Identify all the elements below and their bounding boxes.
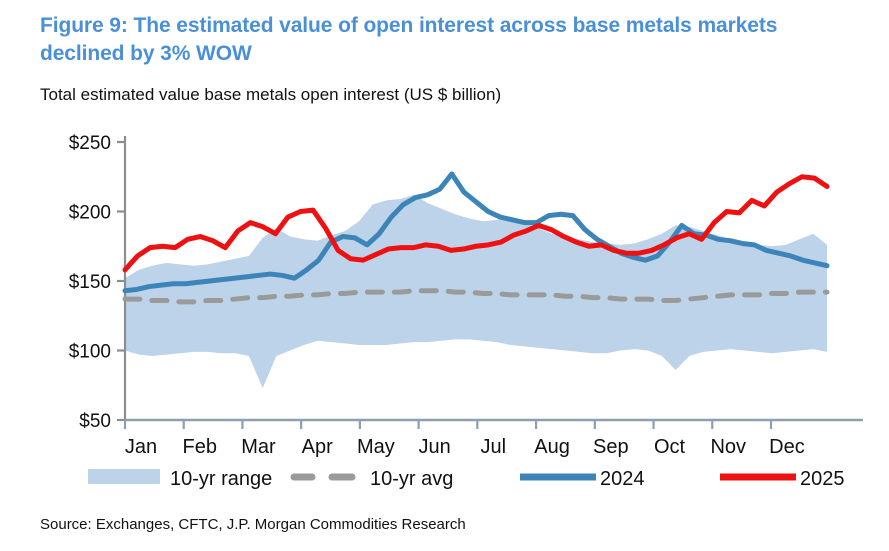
x-tick-label-jun: Jun [419,436,451,458]
y-tick-label: $200 [69,203,111,224]
x-tick-label-oct: Oct [654,436,686,458]
x-tick-label-aug: Aug [534,436,570,458]
x-tick-label-dec: Dec [769,436,805,458]
y-tick-label: $250 [69,133,111,154]
x-tick-label-sep: Sep [593,436,629,458]
x-tick-label-jul: Jul [481,436,507,458]
figure-title: Figure 9: The estimated value of open in… [40,12,840,68]
line-chart: $50$100$150$200$250JanFebMarAprMayJunJul… [0,120,889,465]
legend-item-10-yr-avg-label: 10-yr avg [370,468,453,490]
legend-item-2024-label: 2024 [600,468,645,490]
y-tick-label: $50 [79,411,111,432]
legend-swatches: 10-yr range10-yr avg20242025 [0,462,889,496]
y-tick-label: $100 [69,342,111,363]
figure-subtitle: Total estimated value base metals open i… [40,85,860,105]
source-note: Source: Exchanges, CFTC, J.P. Morgan Com… [40,516,466,533]
legend-item-2025-label: 2025 [800,468,845,490]
x-tick-label-may: May [357,436,395,458]
legend-item-10-yr-range-swatch [88,469,160,484]
x-tick-label-mar: Mar [241,436,276,458]
x-tick-label-jan: Jan [125,436,157,458]
x-tick-label-nov: Nov [710,436,746,458]
figure-container: Figure 9: The estimated value of open in… [0,0,889,551]
y-tick-label: $150 [69,272,111,293]
x-tick-label-feb: Feb [182,436,216,458]
chart-legend: 10-yr range10-yr avg20242025 [0,462,889,496]
legend-item-10-yr-range-label: 10-yr range [170,468,272,490]
x-tick-label-apr: Apr [302,436,333,458]
chart-plot-area: $50$100$150$200$250JanFebMarAprMayJunJul… [0,120,889,465]
